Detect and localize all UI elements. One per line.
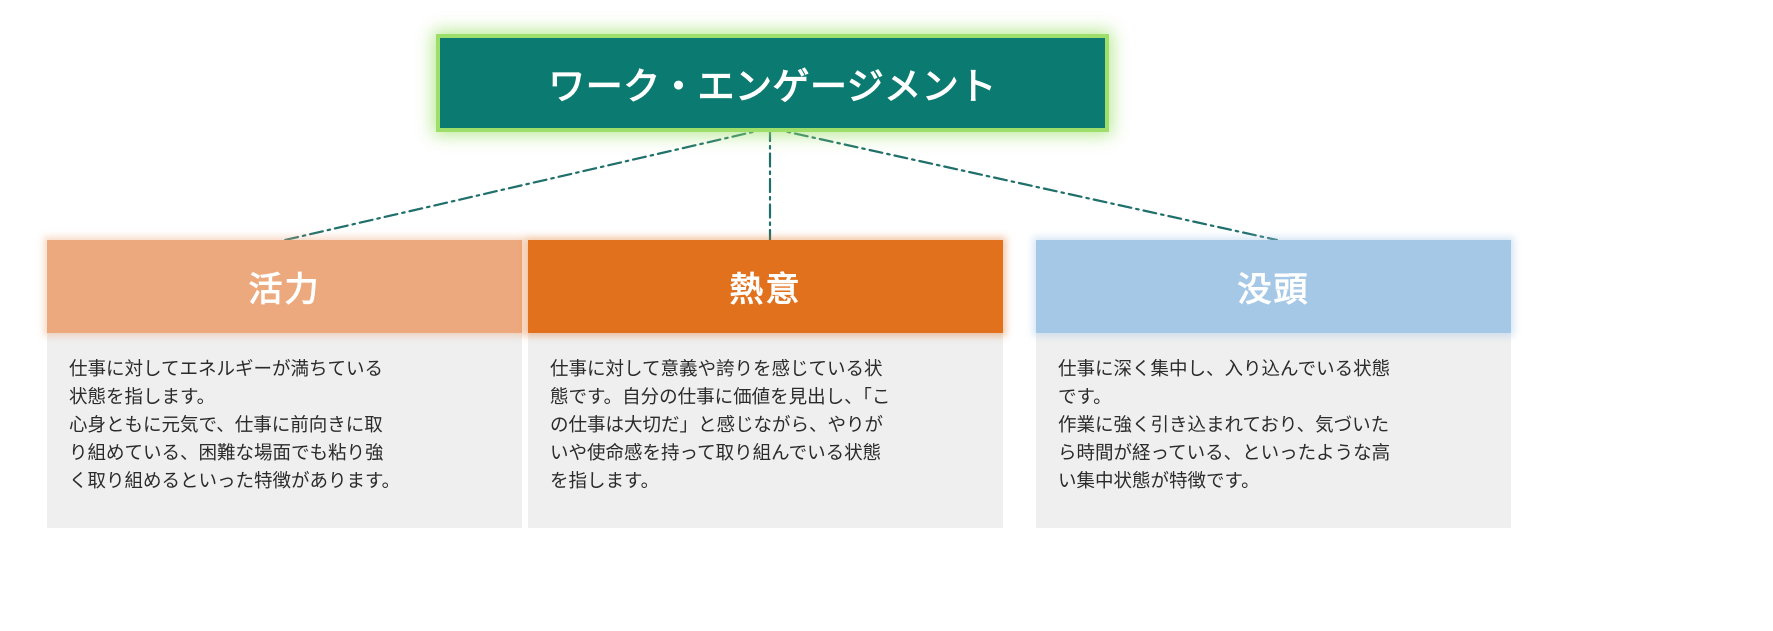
diagram-canvas: ワーク・エンゲージメント 活力 仕事に対してエネルギーが満ちている 状態を指しま… — [0, 0, 1773, 631]
concept-card-body: 仕事に深く集中し、入り込んでいる状態 です。 作業に強く引き込まれており、気づい… — [1036, 333, 1511, 528]
concept-card-absorption: 没頭 仕事に深く集中し、入り込んでいる状態 です。 作業に強く引き込まれており、… — [1036, 240, 1511, 528]
concept-card-description: 仕事に対して意義や誇りを感じている状 態です。自分の仕事に価値を見出し、「こ の… — [550, 355, 983, 496]
concept-card-header: 熱意 — [528, 240, 1003, 333]
concept-card-description: 仕事に深く集中し、入り込んでいる状態 です。 作業に強く引き込まれており、気づい… — [1058, 355, 1491, 496]
root-concept-box: ワーク・エンゲージメント — [440, 38, 1105, 128]
connector-line-right — [770, 128, 1277, 240]
concept-card-header: 没頭 — [1036, 240, 1511, 333]
concept-card-body: 仕事に対して意義や誇りを感じている状 態です。自分の仕事に価値を見出し、「こ の… — [528, 333, 1003, 528]
concept-card-title: 没頭 — [1238, 262, 1310, 311]
root-concept-label: ワーク・エンゲージメント — [548, 56, 997, 110]
connector-line-left — [285, 128, 770, 240]
concept-card-title: 活力 — [249, 262, 321, 311]
concept-card-title: 熱意 — [730, 262, 802, 311]
concept-card-description: 仕事に対してエネルギーが満ちている 状態を指します。 心身ともに元気で、仕事に前… — [69, 355, 502, 496]
concept-card-dedication: 熱意 仕事に対して意義や誇りを感じている状 態です。自分の仕事に価値を見出し、「… — [528, 240, 1003, 528]
concept-card-body: 仕事に対してエネルギーが満ちている 状態を指します。 心身ともに元気で、仕事に前… — [47, 333, 522, 528]
concept-card-vigor: 活力 仕事に対してエネルギーが満ちている 状態を指します。 心身ともに元気で、仕… — [47, 240, 522, 528]
concept-card-header: 活力 — [47, 240, 522, 333]
